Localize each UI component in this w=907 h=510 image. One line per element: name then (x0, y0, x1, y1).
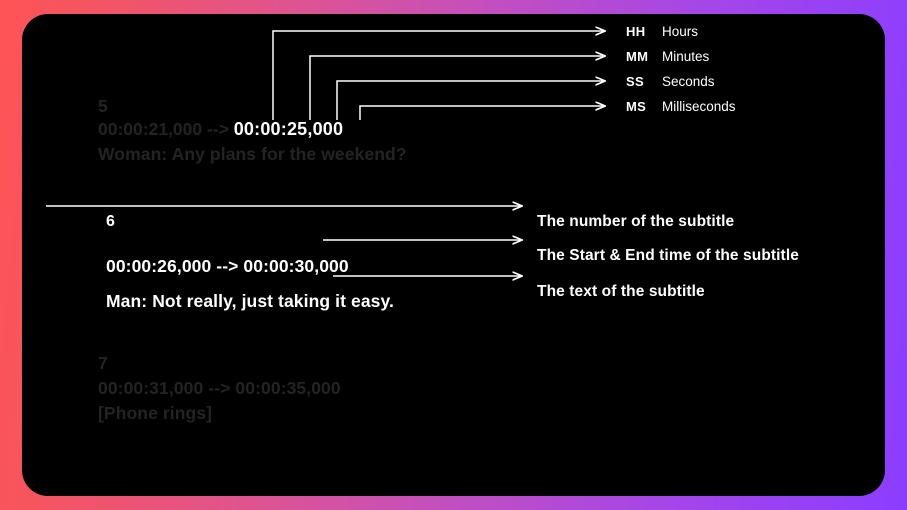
legend-row-hh: HH Hours (626, 24, 736, 49)
connector-ms (360, 106, 605, 120)
connector-mm (310, 56, 605, 120)
legend-name-mm: Minutes (662, 49, 709, 64)
legend-name-hh: Hours (662, 24, 698, 39)
legend-code-ss: SS (626, 74, 662, 89)
subtitle-timecode-next: 00:00:31,000 --> 00:00:35,000 (98, 378, 341, 399)
subtitle-index-previous: 5 (98, 96, 108, 117)
subtitle-index-next: 7 (98, 353, 108, 374)
timecode-end-previous: 00:00:25,000 (234, 119, 344, 139)
legend-code-ms: MS (626, 99, 662, 114)
timecode-connectors (273, 31, 605, 120)
subtitle-timecode-previous: 00:00:21,000 --> 00:00:25,000 (98, 119, 343, 140)
content-panel: 5 00:00:21,000 --> 00:00:25,000 Woman: A… (22, 14, 885, 496)
subtitle-text-current: Man: Not really, just taking it easy. (106, 291, 394, 312)
legend-code-mm: MM (626, 49, 662, 64)
slide-frame: 5 00:00:21,000 --> 00:00:25,000 Woman: A… (0, 0, 907, 510)
timecode-start-previous: 00:00:21,000 --> (98, 119, 234, 139)
legend-code-hh: HH (626, 24, 662, 39)
connector-hh (273, 31, 605, 120)
annotation-label-time: The Start & End time of the subtitle (537, 247, 799, 265)
timecode-legend: HH Hours MM Minutes SS Seconds MS Millis… (626, 24, 736, 124)
subtitle-text-previous: Woman: Any plans for the weekend? (98, 144, 407, 165)
legend-row-mm: MM Minutes (626, 49, 736, 74)
subtitle-timecode-current: 00:00:26,000 --> 00:00:30,000 (106, 256, 349, 277)
subtitle-text-next: [Phone rings] (98, 403, 212, 424)
legend-row-ms: MS Milliseconds (626, 99, 736, 124)
legend-name-ss: Seconds (662, 74, 715, 89)
annotation-label-number: The number of the subtitle (537, 213, 734, 231)
legend-name-ms: Milliseconds (662, 99, 736, 114)
connector-ss (337, 81, 605, 120)
annotation-label-text: The text of the subtitle (537, 283, 705, 301)
subtitle-index-current: 6 (106, 213, 115, 231)
legend-row-ss: SS Seconds (626, 74, 736, 99)
